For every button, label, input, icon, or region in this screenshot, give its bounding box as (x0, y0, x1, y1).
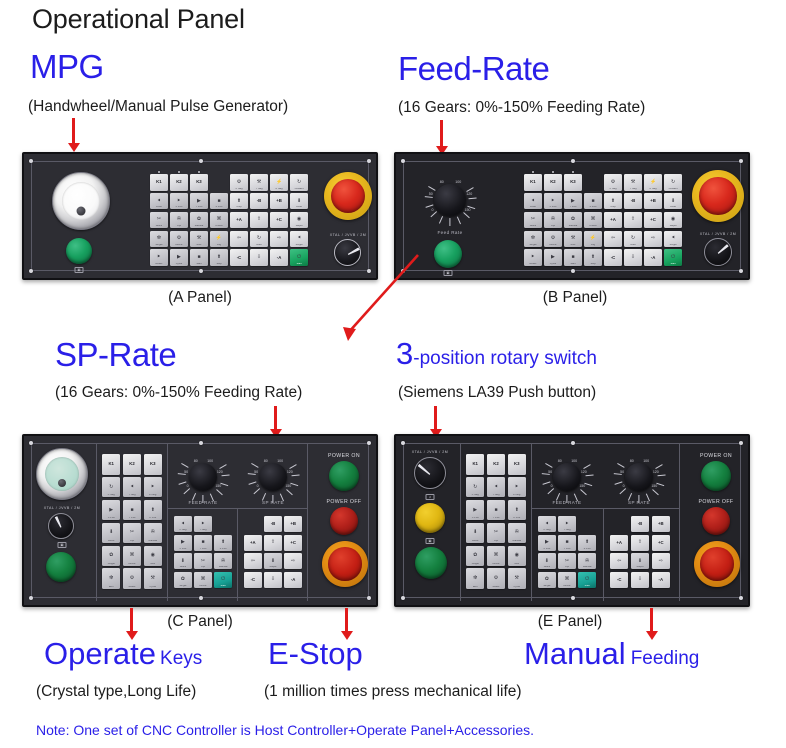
key-sublabel: Manual (190, 225, 208, 228)
key-axis--C[interactable]: -C (610, 572, 628, 588)
rotary-pointer (717, 244, 729, 255)
key-function[interactable]: ❇Edit (102, 568, 120, 589)
key-function[interactable]: ■Y Pos (194, 535, 212, 551)
key-axis--C[interactable]: -C (230, 249, 248, 266)
yellow-button[interactable] (415, 503, 445, 533)
dial-tick (289, 464, 297, 469)
key-glyph-icon: ❇ (157, 236, 161, 241)
callout-estop: E-Stop (268, 636, 363, 672)
callout-estop-sub: (1 million times press mechanical life) (264, 683, 522, 701)
key-glyph-icon: ⇦ (237, 236, 241, 241)
key-function[interactable]: ◉MDI (508, 546, 526, 567)
dial-tick (251, 463, 259, 468)
sp-rate-dial-assembly[interactable]: 05080100120150 (252, 456, 294, 498)
green-button[interactable] (415, 547, 447, 579)
screw (367, 441, 371, 445)
key-axis-+C[interactable]: +C (270, 212, 288, 229)
arrow-rotary-diagonal (330, 255, 440, 345)
key-glyph-icon: ❇ (531, 236, 535, 241)
key-function[interactable]: ■Z Pos (584, 193, 602, 210)
key-function[interactable]: ⬇Lube (664, 193, 682, 210)
key-glyph-icon: ⚙ (130, 576, 134, 581)
key-function[interactable]: ↻Coolant (664, 174, 682, 191)
key-function[interactable]: ⌘Home (123, 546, 141, 567)
keypad-e-left[interactable]: K1K2K3↻X Neg⯇Y Neg⯈Z Neg▶X Pos■Y Pos⬆Z P… (466, 454, 526, 589)
key-k1[interactable]: K1 (150, 174, 168, 191)
key-axis--B[interactable]: -B (631, 516, 649, 532)
key-glyph-icon: ▶ (197, 199, 201, 204)
key-function[interactable]: ⬆Stop (210, 249, 228, 266)
keypad-c-axis[interactable]: -B+B+A⇧+C⇦⬇Rapid⇨-C⇩-A (244, 516, 302, 588)
key-function[interactable]: ⬇Lube (290, 193, 308, 210)
key-sublabel: Start (190, 263, 208, 266)
key-function[interactable]: ↻X Neg (466, 477, 484, 498)
key-sublabel: X Pos (538, 548, 556, 551)
dial-scale-number: 0 (187, 484, 189, 488)
keypad-a[interactable]: K1K2K3⚙X Neg⚒Y Neg⚡Z Neg↻Coolant⯇Lube⯈X … (150, 174, 308, 266)
dial-tick (253, 488, 260, 494)
key-function[interactable]: ▶Y Pos (564, 193, 582, 210)
screw (739, 441, 743, 445)
key-function[interactable]: ■Y Pos (487, 500, 505, 521)
key-function[interactable]: ▶X Pos (102, 500, 120, 521)
key-function[interactable]: ✿Single (174, 572, 192, 588)
key-function[interactable]: ✂Block (150, 212, 168, 229)
key-k1[interactable]: K1 (524, 174, 542, 191)
keypad-key (214, 516, 232, 532)
key-function[interactable]: ✿Manual (564, 212, 582, 229)
key-k2[interactable]: K2 (170, 174, 188, 191)
emergency-stop-button[interactable] (324, 172, 372, 220)
key-function[interactable]: ⚡Z Neg (270, 174, 288, 191)
green-button[interactable] (46, 552, 76, 582)
key-function[interactable]: ⚙Reset (123, 568, 141, 589)
keypad-key (610, 516, 628, 532)
dial-scale-number: 120 (287, 470, 293, 474)
key-function[interactable]: ✂Opt (487, 523, 505, 544)
feed-rate-dial-assembly[interactable]: 05080100120150 (426, 176, 474, 224)
emergency-stop-button[interactable] (692, 170, 744, 222)
key-function[interactable]: ✂Opt (194, 553, 212, 569)
keypad-c-middle[interactable]: ⯇X Neg⯈Y Neg▶X Pos■Y Pos⬆Z Pos⬇Block✂Opt… (174, 516, 232, 588)
key-function[interactable]: ▶Cycle (170, 249, 188, 266)
screw (739, 596, 743, 600)
key-sublabel: Single (150, 244, 168, 247)
feed-rate-dial[interactable] (189, 463, 217, 491)
power-off-button[interactable] (702, 507, 730, 535)
key-sublabel: Home (544, 244, 562, 247)
key-function[interactable]: ⚒MDI (564, 231, 582, 248)
key-sublabel: Z Pos (584, 206, 602, 209)
panel-b[interactable]: 05080100120150 Feed Rate ▣ K1K2K3⚙X Neg⚒… (394, 152, 750, 280)
key-function[interactable]: ⌘Check (210, 212, 228, 229)
key-axis--B[interactable]: -B (264, 516, 282, 532)
panel-a[interactable]: ▣ K1K2K3⚙X Neg⚒Y Neg⚡Z Neg↻Coolant⯇Lube⯈… (22, 152, 378, 280)
rotary-switch-3-position[interactable] (48, 513, 74, 539)
key-sublabel: Z Neg (270, 188, 288, 191)
handwheel-mpg[interactable] (36, 448, 88, 500)
sp-rate-dial-assembly[interactable]: 05080100120150 (618, 456, 660, 498)
key-function[interactable]: ⚡Jog (584, 231, 602, 248)
key-k3[interactable]: K3 (144, 454, 162, 475)
key-glyph-icon: ⬇ (545, 559, 549, 564)
key-glyph-icon: ↻ (473, 485, 477, 490)
callout-mpg-heading: MPG (30, 48, 104, 86)
key-sublabel: Start (664, 263, 682, 266)
key-sublabel: Opt (170, 225, 188, 228)
dial-scale-number: 0 (431, 208, 433, 212)
key-function[interactable]: ⯈X Pos (170, 193, 188, 210)
key-label: K2 (493, 462, 499, 466)
key-sublabel: Cycle (170, 263, 188, 266)
key-rapid[interactable]: ⬇Rapid (631, 553, 649, 569)
key-start[interactable]: ⏻Start (578, 572, 596, 588)
emergency-stop-button[interactable] (322, 541, 368, 587)
key-label: +C (276, 218, 282, 222)
key-glyph-icon: ✿ (109, 553, 113, 558)
key-function[interactable]: ✇Manual (144, 523, 162, 544)
handwheel-mpg[interactable] (52, 172, 110, 230)
key-glyph-icon: ⯇ (545, 522, 549, 527)
emergency-stop-cap (699, 177, 736, 214)
screw (199, 596, 203, 600)
key-glyph-icon: ⚙ (551, 236, 555, 241)
keypad-key (578, 516, 596, 532)
key-function[interactable]: ⚒Cycle (144, 568, 162, 589)
key-glyph-icon: ⚙ (237, 180, 241, 185)
key-function[interactable]: ✂Opt (123, 523, 141, 544)
key-function[interactable]: ✿Single (466, 546, 484, 567)
key-function[interactable]: ✿Manual (190, 212, 208, 229)
key-arrow[interactable]: ⇦ (244, 553, 262, 569)
key-arrow[interactable]: ⇨ (270, 231, 288, 248)
key-axis-+B[interactable]: +B (652, 516, 670, 532)
key-sublabel: X Pos (170, 206, 188, 209)
key-function[interactable]: ⯈Z Neg (508, 477, 526, 498)
callout-operate-heading-big: Operate (44, 636, 156, 671)
key-function[interactable]: ⌘Home (558, 572, 576, 588)
rotary-switch-3-position[interactable] (704, 238, 732, 266)
panel-divider (237, 508, 238, 601)
feed-rate-dial-assembly[interactable]: 05080100120150 (546, 456, 588, 498)
key-function[interactable]: ⬇Block (102, 523, 120, 544)
keypad-e-axis[interactable]: -B+B+A⇧+C⇦⬇Rapid⇨-C⇩-A (610, 516, 670, 588)
key-function[interactable]: ⚒MDI (190, 231, 208, 248)
key-glyph-icon: ↻ (257, 236, 261, 241)
key-function[interactable]: ⯈Y Neg (194, 516, 212, 532)
panel-divider (96, 444, 97, 601)
key-function[interactable]: ✂Opt (558, 553, 576, 569)
dial-tick (220, 483, 228, 487)
key-sublabel: Edit (102, 586, 120, 589)
panel-c[interactable]: XTAL / JVVB / 2M ▣ K1K2K3↻X Neg⯇Y Neg⯈Z … (22, 434, 378, 607)
key-function[interactable]: ⚡Jog (210, 231, 228, 248)
key-k1[interactable]: K1 (466, 454, 484, 475)
key-arrow[interactable]: ⇩ (624, 249, 642, 266)
key-axis-+A[interactable]: +A (610, 535, 628, 551)
key-axis--B[interactable]: -B (624, 193, 642, 210)
sp-rate-dial[interactable] (625, 463, 653, 491)
key-function[interactable]: ↻X Neg (102, 477, 120, 498)
key-axis-+A[interactable]: +A (244, 535, 262, 551)
key-axis-+A[interactable]: +A (604, 212, 622, 229)
key-function[interactable]: ⚒Y Neg (624, 174, 642, 191)
rotary-switch-legend: XTAL / JVVB / 2M (412, 450, 449, 454)
key-function[interactable]: ↻Auto (624, 231, 642, 248)
key-function[interactable]: ▶X Pos (466, 500, 484, 521)
screw (367, 159, 371, 163)
feed-rate-dial-assembly[interactable]: 05080100120150 (182, 456, 224, 498)
key-sublabel: Y Neg (487, 494, 505, 497)
page-title: Operational Panel (32, 4, 245, 35)
key-function[interactable]: ⚒Cycle (508, 568, 526, 589)
key-label: +A (610, 218, 616, 222)
key-function[interactable]: ⬆Z Pos (508, 500, 526, 521)
caption-panel-b: (B Panel) (525, 289, 625, 307)
key-sublabel: Single (538, 585, 556, 588)
feed-rate-dial[interactable] (553, 463, 581, 491)
key-k3[interactable]: K3 (190, 174, 208, 191)
key-glyph-icon: ⚙ (177, 236, 181, 241)
power-off-button[interactable] (330, 507, 358, 535)
key-function[interactable]: ✿Single (538, 572, 556, 588)
callout-mpg-sub: (Handwheel/Manual Pulse Generator) (28, 98, 288, 116)
key-function[interactable]: ⯇Y Neg (123, 477, 141, 498)
key-function[interactable]: ■Z Pos (210, 193, 228, 210)
key-function[interactable]: ⬆Chip (230, 193, 248, 210)
key-sublabel: Z Pos (214, 548, 232, 551)
panel-e[interactable]: XTAL / JVVB / 2M ♫ ▣ K1K2K3↻X Neg⯇Y Neg⯈… (394, 434, 750, 607)
key-arrow[interactable]: ⇦ (610, 553, 628, 569)
key-function[interactable]: ⯇Lube (524, 193, 542, 210)
key-function[interactable]: ■Start (564, 249, 582, 266)
key-glyph-icon: ❇ (473, 576, 477, 581)
key-sublabel: MDI (144, 563, 162, 566)
key-function[interactable]: ▶X Pos (538, 535, 556, 551)
key-glyph-icon: ⇧ (257, 217, 261, 222)
key-function[interactable]: ◉Rapid (290, 212, 308, 229)
key-sublabel: Auto (250, 244, 268, 247)
key-glyph-icon: ↻ (631, 236, 635, 241)
key-function[interactable]: ▶Cycle (544, 249, 562, 266)
key-arrow[interactable]: ⇩ (631, 572, 649, 588)
key-axis-+C[interactable]: +C (644, 212, 662, 229)
key-function[interactable]: ⬆Z Pos (214, 535, 232, 551)
key-axis-+B[interactable]: +B (270, 193, 288, 210)
key-label: -C (237, 256, 242, 260)
key-axis-+B[interactable]: +B (644, 193, 662, 210)
key-axis--B[interactable]: -B (250, 193, 268, 210)
key-glyph-icon: ↻ (671, 180, 675, 185)
dial-tick (286, 489, 293, 495)
key-function[interactable]: ⯇Lube (150, 193, 168, 210)
green-button[interactable] (66, 238, 92, 264)
key-function[interactable]: ▶X Pos (174, 535, 192, 551)
dial-tick (468, 197, 476, 199)
key-arrow[interactable]: ⇧ (631, 535, 649, 551)
key-function[interactable]: ✿Single (102, 546, 120, 567)
key-arrow[interactable]: ⇩ (264, 572, 282, 588)
key-k3[interactable]: K3 (564, 174, 582, 191)
key-axis--A[interactable]: -A (652, 572, 670, 588)
key-function[interactable]: ✇Opt (544, 212, 562, 229)
key-axis--A[interactable]: -A (270, 249, 288, 266)
key-function[interactable]: ⬇Block (538, 553, 556, 569)
key-function[interactable]: ⯇Single (664, 231, 682, 248)
key-glyph-icon: ⯇ (181, 522, 185, 527)
key-k1[interactable]: K1 (102, 454, 120, 475)
key-function[interactable]: ✂Block (524, 212, 542, 229)
key-function[interactable]: ⌘Home (194, 572, 212, 588)
key-sublabel: Y Neg (194, 529, 212, 532)
key-arrow[interactable]: ⇦ (604, 231, 622, 248)
key-arrow[interactable]: ⇨ (284, 553, 302, 569)
key-glyph-icon: ▶ (473, 508, 477, 513)
key-function[interactable]: ⚙Reset (487, 568, 505, 589)
key-sublabel: X Pos (544, 206, 562, 209)
key-arrow[interactable]: ⇧ (264, 535, 282, 551)
key-function[interactable]: ❇Single (150, 231, 168, 248)
key-function[interactable]: ⯈Y Neg (558, 516, 576, 532)
key-axis-+C[interactable]: +C (652, 535, 670, 551)
key-function[interactable]: ⬆Stop (584, 249, 602, 266)
key-k3[interactable]: K3 (508, 454, 526, 475)
key-glyph-icon: ⯈ (177, 199, 181, 204)
key-function[interactable]: ⯇X Neg (538, 516, 556, 532)
key-function[interactable]: ⚒Y Neg (250, 174, 268, 191)
key-function[interactable]: ⚙X Neg (230, 174, 248, 191)
key-function[interactable]: ⯈Reset (524, 249, 542, 266)
key-glyph-icon: ⚒ (515, 576, 519, 581)
emergency-stop-button[interactable] (694, 541, 740, 587)
key-arrow[interactable]: ⇨ (652, 553, 670, 569)
key-axis-+C[interactable]: +C (284, 535, 302, 551)
key-arrow[interactable]: ⇧ (250, 212, 268, 229)
rotary-switch-3-position[interactable] (414, 457, 446, 489)
key-arrow[interactable]: ⇧ (624, 212, 642, 229)
key-function[interactable]: ⌘Check (584, 212, 602, 229)
key-function[interactable]: ▶Y Pos (190, 193, 208, 210)
dial-tick (656, 483, 664, 487)
key-k2[interactable]: K2 (487, 454, 505, 475)
dial-scale-number: 100 (207, 459, 213, 463)
key-glyph-icon: ■ (201, 540, 204, 545)
key-function[interactable]: ⯈Reset (150, 249, 168, 266)
keypad-e-middle[interactable]: ⯇X Neg⯈Y Neg▶X Pos■Y Pos⬆Z Pos⬇Block✂Opt… (538, 516, 596, 588)
key-sublabel: Manual (214, 566, 232, 569)
key-function[interactable]: ↻Auto (250, 231, 268, 248)
key-function[interactable]: ⚙X Neg (604, 174, 622, 191)
handwheel-knob[interactable] (77, 207, 86, 216)
key-function[interactable]: ❇Edit (466, 568, 484, 589)
key-arrow[interactable]: ⇦ (230, 231, 248, 248)
key-function[interactable]: ⬆Chip (604, 193, 622, 210)
key-function[interactable]: ⚙Home (544, 231, 562, 248)
callout-sprate-heading: SP-Rate (55, 336, 176, 374)
key-glyph-icon: ⬆ (591, 255, 595, 260)
key-function[interactable]: ⬆Z Pos (578, 535, 596, 551)
dial-tick (216, 489, 223, 495)
key-function[interactable]: ✇Manual (508, 523, 526, 544)
key-arrow[interactable]: ⇨ (644, 231, 662, 248)
key-function[interactable]: ⚙Home (170, 231, 188, 248)
key-sublabel: Block (524, 225, 542, 228)
keypad-c-left[interactable]: K1K2K3↻X Neg⯇Y Neg⯈Z Neg▶X Pos■Y Pos⬆Z P… (102, 454, 162, 589)
key-function[interactable]: ✇Opt (170, 212, 188, 229)
key-function[interactable]: ⚡Z Neg (644, 174, 662, 191)
key-glyph-icon: ⚡ (216, 236, 222, 241)
handwheel-knob[interactable] (58, 479, 66, 487)
power-on-button[interactable] (701, 461, 731, 491)
key-function[interactable]: ❇Single (524, 231, 542, 248)
callout-operate-sub: (Crystal type,Long Life) (36, 683, 196, 701)
key-sublabel: Y Neg (558, 529, 576, 532)
key-axis--C[interactable]: -C (604, 249, 622, 266)
key-function[interactable]: ■Y Pos (558, 535, 576, 551)
key-k2[interactable]: K2 (123, 454, 141, 475)
key-glyph-icon: ⇨ (277, 236, 281, 241)
key-function[interactable]: ⯈X Pos (544, 193, 562, 210)
key-function[interactable]: ⬇Block (466, 523, 484, 544)
power-on-button[interactable] (329, 461, 359, 491)
key-glyph-icon: ◉ (297, 217, 301, 222)
key-k2[interactable]: K2 (544, 174, 562, 191)
key-function[interactable]: ⯇X Neg (174, 516, 192, 532)
key-label: K3 (196, 180, 202, 184)
dial-scale-number: 50 (620, 470, 624, 474)
key-start[interactable]: ⏻Start (214, 572, 232, 588)
dial-scale-number: 50 (184, 470, 188, 474)
key-start[interactable]: ⏻Start (290, 249, 308, 266)
key-sublabel: Reset (123, 586, 141, 589)
keypad-b[interactable]: K1K2K3⚙X Neg⚒Y Neg⚡Z Neg↻Coolant⯇Lube⯈X … (524, 174, 682, 266)
key-function[interactable]: ✇Manual (214, 553, 232, 569)
key-function[interactable]: ⬆Z Pos (144, 500, 162, 521)
key-axis-+A[interactable]: +A (230, 212, 248, 229)
key-function[interactable]: ◉Rapid (664, 212, 682, 229)
key-axis--A[interactable]: -A (644, 249, 662, 266)
key-function[interactable]: ⯇Single (290, 231, 308, 248)
key-start[interactable]: ⏻Start (664, 249, 682, 266)
key-arrow[interactable]: ⇩ (250, 249, 268, 266)
key-glyph-icon: ⌘ (494, 553, 499, 558)
key-function[interactable]: ■Y Pos (123, 500, 141, 521)
key-function[interactable]: ■Start (190, 249, 208, 266)
screw (29, 159, 33, 163)
key-sublabel: Start (578, 585, 596, 588)
key-rapid[interactable]: ⬇Rapid (264, 553, 282, 569)
key-axis-+B[interactable]: +B (284, 516, 302, 532)
key-function[interactable]: ✇Manual (578, 553, 596, 569)
key-axis--C[interactable]: -C (244, 572, 262, 588)
key-label: -A (651, 256, 656, 260)
feed-rate-dial[interactable] (434, 184, 466, 216)
key-sublabel: Manual (144, 540, 162, 543)
key-glyph-icon: ⇩ (631, 255, 635, 260)
key-glyph-icon: ■ (494, 508, 497, 513)
key-function[interactable]: ⬇Block (174, 553, 192, 569)
key-axis--A[interactable]: -A (284, 572, 302, 588)
key-function[interactable]: ◉MDI (144, 546, 162, 567)
key-function[interactable]: ⌘Home (487, 546, 505, 567)
sp-rate-dial[interactable] (259, 463, 287, 491)
key-function[interactable]: ⯇Y Neg (487, 477, 505, 498)
key-function[interactable]: ⯈Z Neg (144, 477, 162, 498)
key-function[interactable]: ↻Coolant (290, 174, 308, 191)
key-glyph-icon: ⚒ (571, 236, 575, 241)
key-sublabel: Home (170, 244, 188, 247)
key-sublabel: Y Neg (250, 188, 268, 191)
